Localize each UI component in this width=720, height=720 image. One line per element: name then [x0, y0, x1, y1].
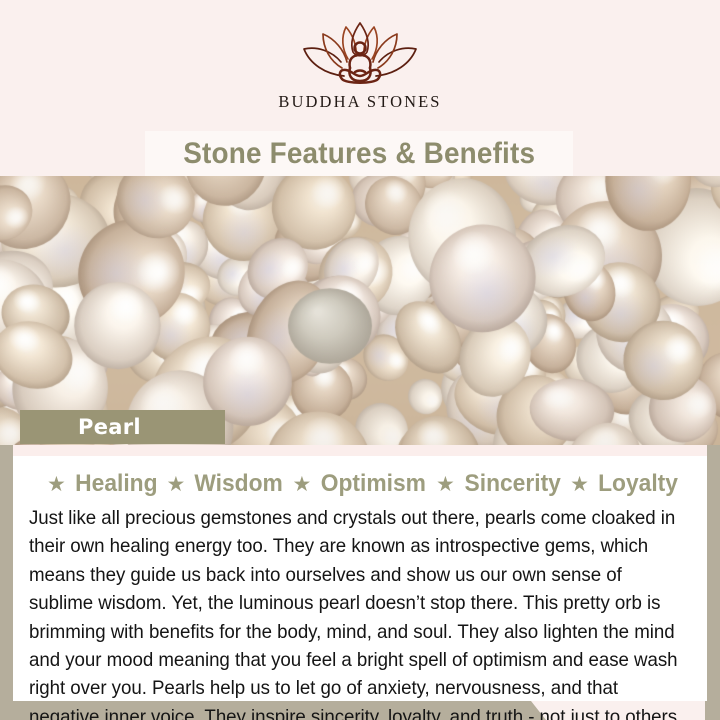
benefit-item: ★Healing: [40, 470, 160, 498]
pearl-photo: [0, 176, 720, 445]
benefit-label: Loyalty: [598, 470, 678, 498]
star-icon: ★: [47, 474, 66, 495]
star-icon: ★: [570, 474, 589, 495]
infographic-page: BUDDHA STONES Stone Features & Benefits …: [0, 0, 720, 720]
brand-logo: BUDDHA STONES: [0, 20, 720, 112]
title-band: Stone Features & Benefits: [145, 131, 573, 176]
benefit-label: Sincerity: [464, 470, 560, 498]
benefit-label: Wisdom: [195, 470, 283, 498]
hero-image: [0, 176, 720, 445]
benefit-item: ★Optimism: [285, 470, 429, 498]
description-text: Just like all precious gemstones and cry…: [29, 504, 687, 720]
benefits-row: ★Healing★Wisdom★Optimism★Sincerity★Loyal…: [29, 470, 691, 498]
star-icon: ★: [292, 474, 311, 495]
brand-name: BUDDHA STONES: [0, 92, 720, 112]
benefit-label: Healing: [75, 470, 157, 498]
page-title: Stone Features & Benefits: [183, 137, 535, 171]
stone-name: Pearl: [78, 415, 141, 439]
benefit-label: Optimism: [321, 470, 426, 498]
content-panel: ★Healing★Wisdom★Optimism★Sincerity★Loyal…: [13, 456, 707, 701]
decor-left-bar: [0, 445, 13, 720]
star-icon: ★: [166, 474, 185, 495]
benefit-item: ★Sincerity: [429, 470, 563, 498]
benefit-item: ★Wisdom: [159, 470, 285, 498]
star-icon: ★: [436, 474, 455, 495]
lotus-meditation-icon: [292, 20, 428, 88]
stone-label-bar: Pearl: [20, 410, 225, 444]
divider-strip: [13, 445, 707, 456]
benefit-item: ★Loyalty: [563, 470, 680, 498]
